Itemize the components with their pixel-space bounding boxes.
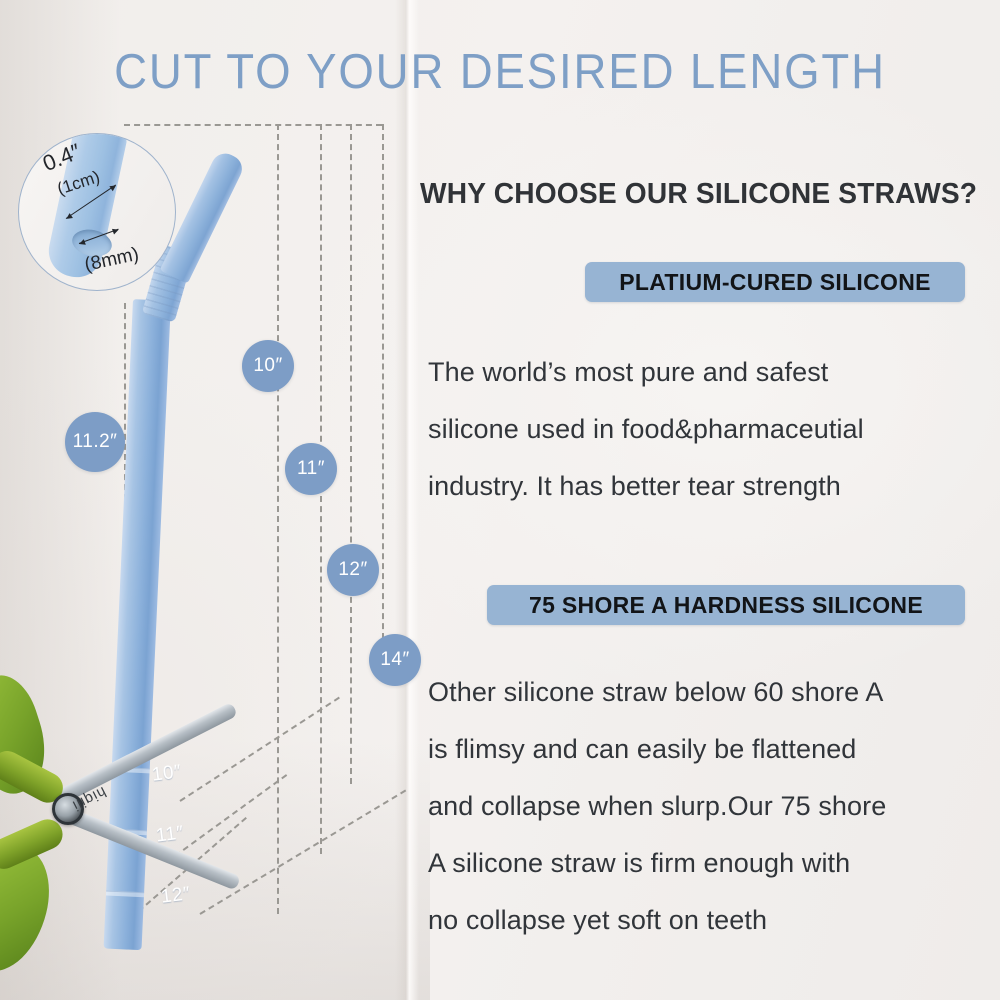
length-badge-14: 14″ [369, 634, 421, 686]
product-infographic: CUT TO YOUR DESIRED LENGTH Tegion 10″ 11… [0, 0, 1000, 1000]
length-badge-10-label: 10″ [253, 355, 282, 377]
section-headline: WHY CHOOSE OUR SILICONE STRAWS? [420, 178, 973, 211]
cut-guide-vertical-b [277, 124, 279, 914]
length-badge-11-2-label: 11.2″ [73, 431, 118, 453]
cut-mark-band-12 [106, 891, 144, 898]
cut-guide-top-horizontal [124, 124, 382, 126]
paper-edge-highlight [395, 0, 419, 1000]
feature-pill-shore-hardness: 75 SHORE A HARDNESS SILICONE [487, 585, 965, 625]
length-badge-10: 10″ [242, 340, 294, 392]
cut-guide-vertical-d [350, 124, 352, 784]
length-badge-14-label: 14″ [380, 649, 409, 671]
length-badge-12-label: 12″ [338, 559, 367, 581]
page-title: CUT TO YOUR DESIRED LENGTH [35, 44, 965, 100]
cut-guide-vertical-e [382, 124, 384, 669]
length-badge-12: 12″ [327, 544, 379, 596]
feature-pill-platinum-cured-label: PLATIUM-CURED SILICONE [619, 269, 931, 296]
feature-body-platinum-cured: The world’s most pure and safest silicon… [428, 344, 998, 515]
length-badge-11-2: 11.2″ [65, 412, 125, 472]
straw-cut-label-10: 10″ [151, 761, 183, 786]
straw-cut-label-12: 12″ [160, 883, 192, 908]
feature-pill-platinum-cured: PLATIUM-CURED SILICONE [585, 262, 965, 302]
length-badge-11: 11″ [285, 443, 337, 495]
feature-pill-shore-hardness-label: 75 SHORE A HARDNESS SILICONE [529, 592, 923, 619]
feature-body-shore-hardness: Other silicone straw below 60 shore A is… [428, 664, 1000, 949]
length-badge-11-label: 11″ [297, 458, 325, 480]
